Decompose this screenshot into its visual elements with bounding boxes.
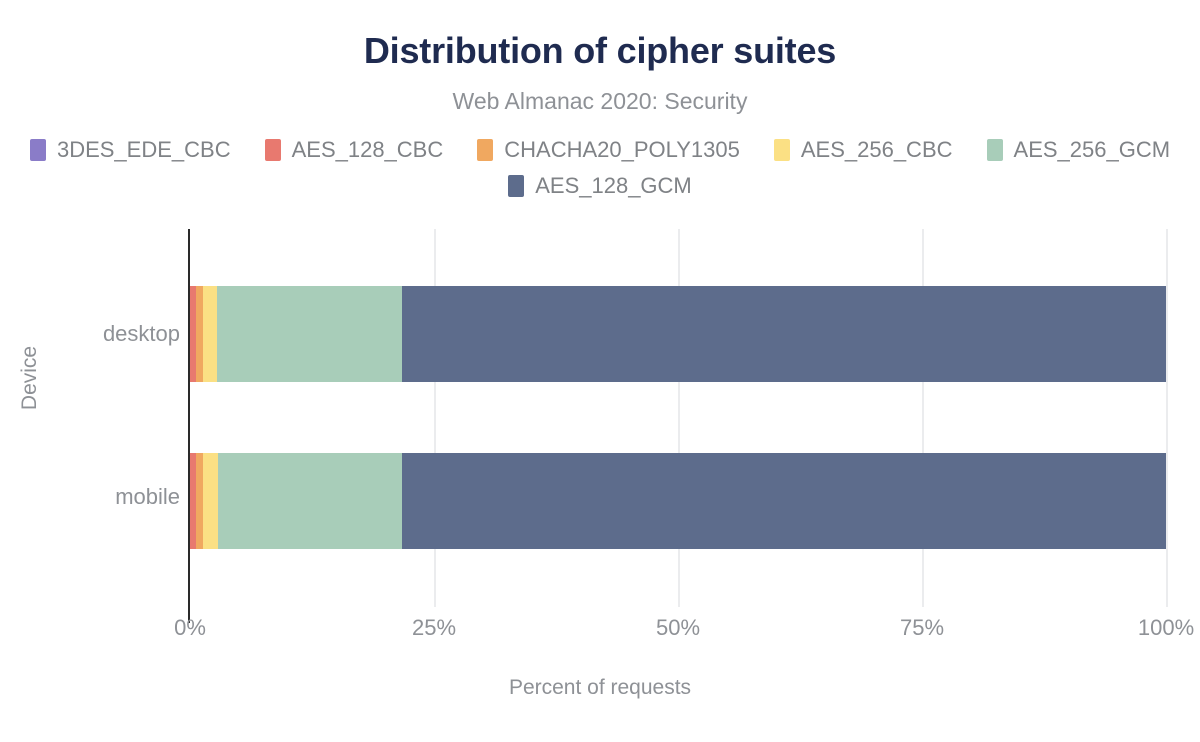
chart-legend: 3DES_EDE_CBCAES_128_CBCCHACHA20_POLY1305… (0, 136, 1200, 200)
chart-container: Distribution of cipher suites Web Almana… (0, 0, 1200, 742)
legend-item-label: AES_256_CBC (801, 137, 953, 163)
legend-item-label: AES_128_GCM (535, 173, 692, 199)
plot-area (190, 229, 1166, 607)
legend-item-aes_128_cbc[interactable]: AES_128_CBC (265, 136, 444, 164)
legend-item-3des_ede_cbc[interactable]: 3DES_EDE_CBC (30, 136, 231, 164)
bar-segment-mobile-aes_256_gcm[interactable] (218, 453, 402, 549)
y-tick-label-mobile: mobile (115, 484, 180, 510)
chart-title: Distribution of cipher suites (0, 30, 1200, 72)
legend-swatch-icon (987, 139, 1003, 161)
gridline-100 (1166, 229, 1168, 607)
bar-segment-mobile-aes_256_cbc[interactable] (203, 453, 218, 549)
legend-item-label: AES_128_CBC (292, 137, 444, 163)
x-tick-label-50: 50% (656, 615, 700, 641)
legend-swatch-icon (30, 139, 46, 161)
legend-swatch-icon (477, 139, 493, 161)
x-tick-label-100: 100% (1138, 615, 1194, 641)
bar-segment-mobile-aes_128_gcm[interactable] (402, 453, 1166, 549)
legend-swatch-icon (265, 139, 281, 161)
bar-segment-desktop-aes_128_gcm[interactable] (402, 286, 1166, 382)
legend-item-label: AES_256_GCM (1014, 137, 1171, 163)
x-axis-title: Percent of requests (0, 676, 1200, 700)
x-tick-label-0: 0% (174, 615, 206, 641)
legend-item-label: 3DES_EDE_CBC (57, 137, 231, 163)
legend-swatch-icon (508, 175, 524, 197)
bar-row-desktop[interactable] (190, 286, 1166, 382)
x-tick-label-75: 75% (900, 615, 944, 641)
legend-item-aes_128_gcm[interactable]: AES_128_GCM (508, 172, 692, 200)
bar-segment-desktop-aes_256_gcm[interactable] (217, 286, 402, 382)
y-tick-label-desktop: desktop (103, 321, 180, 347)
chart-subtitle: Web Almanac 2020: Security (0, 88, 1200, 115)
bar-segment-desktop-chacha20_poly1305[interactable] (196, 286, 203, 382)
legend-item-chacha20_poly1305[interactable]: CHACHA20_POLY1305 (477, 136, 740, 164)
bar-row-mobile[interactable] (190, 453, 1166, 549)
y-axis-title: Device (18, 346, 42, 410)
legend-item-aes_256_gcm[interactable]: AES_256_GCM (987, 136, 1171, 164)
legend-swatch-icon (774, 139, 790, 161)
bar-segment-mobile-chacha20_poly1305[interactable] (196, 453, 203, 549)
x-tick-label-25: 25% (412, 615, 456, 641)
legend-item-label: CHACHA20_POLY1305 (504, 137, 740, 163)
legend-item-aes_256_cbc[interactable]: AES_256_CBC (774, 136, 953, 164)
bar-segment-desktop-aes_256_cbc[interactable] (203, 286, 218, 382)
